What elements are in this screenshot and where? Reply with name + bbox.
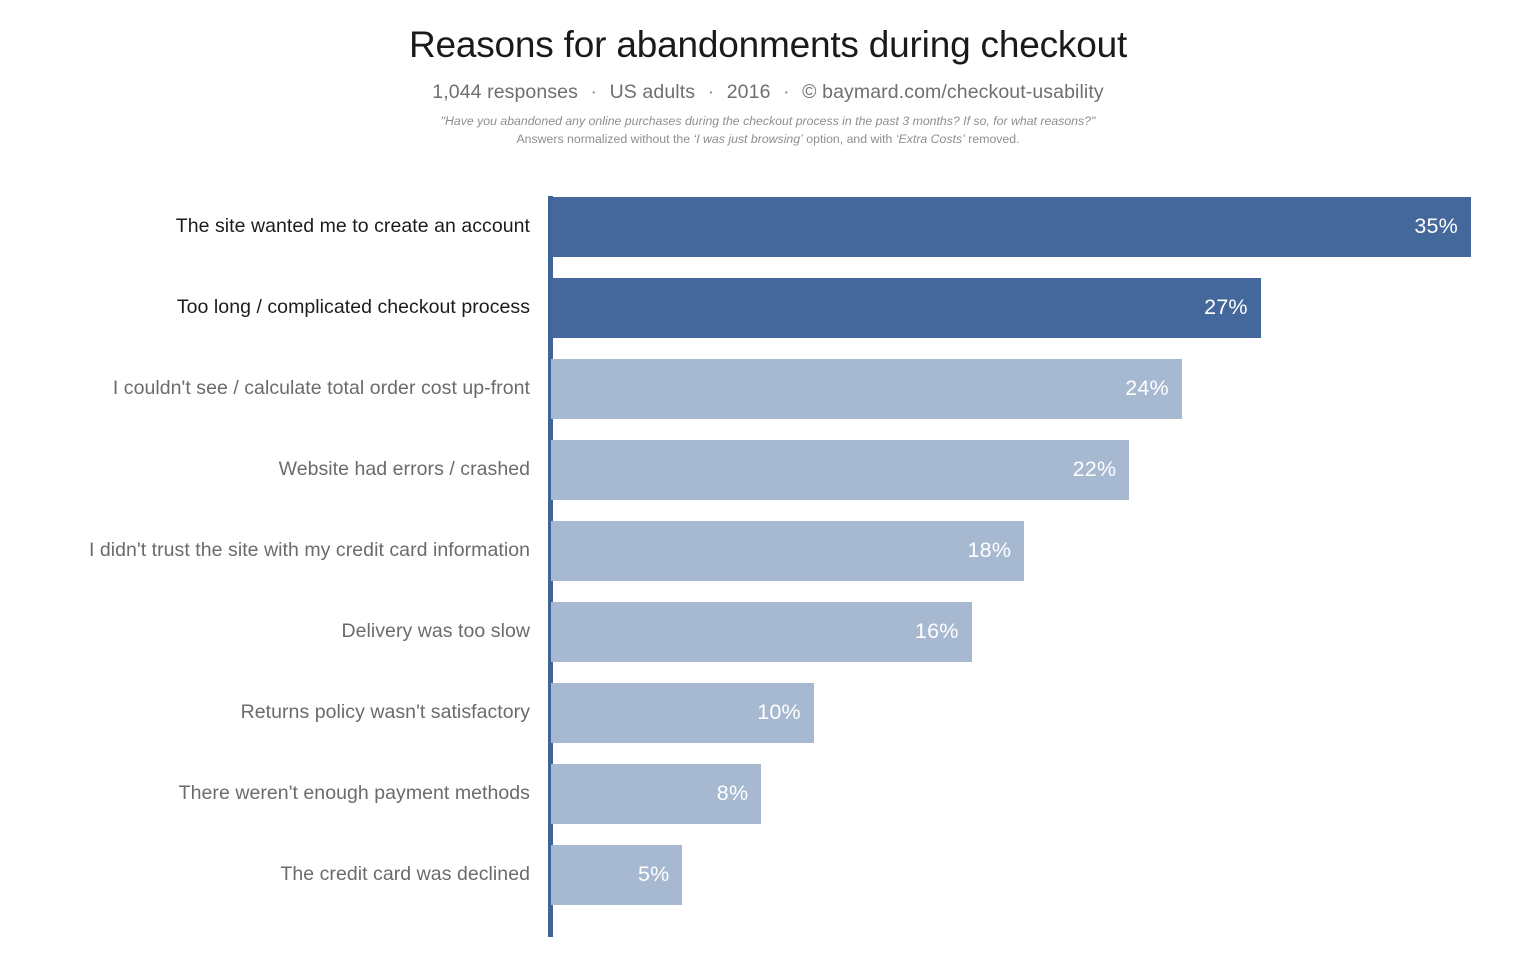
chart-subtitle: 1,044 responses · US adults · 2016 · © b… (0, 80, 1536, 104)
bar-value-label: 10% (757, 702, 814, 724)
chart-header: Reasons for abandonments during checkout… (0, 0, 1536, 148)
bar-rows: The site wanted me to create an account3… (0, 196, 1536, 925)
bar-row: The site wanted me to create an account3… (0, 196, 1536, 277)
bar-value-label: 16% (915, 621, 972, 643)
note-middle: option, and with (803, 132, 896, 146)
category-label: Website had errors / crashed (10, 439, 530, 499)
bar-value-label: 22% (1073, 459, 1130, 481)
bar-value-label: 18% (968, 540, 1025, 562)
bar: 16% (551, 602, 972, 662)
bar: 10% (551, 683, 814, 743)
subtitle-separator: · (584, 81, 605, 103)
bar-row: Too long / complicated checkout process2… (0, 277, 1536, 358)
bar-row: Website had errors / crashed22% (0, 439, 1536, 520)
category-label: There weren't enough payment methods (10, 763, 530, 823)
subtitle-year: 2016 (727, 81, 771, 103)
note-question: "Have you abandoned any online purchases… (441, 114, 1096, 128)
chart-note: "Have you abandoned any online purchases… (0, 112, 1536, 148)
subtitle-separator: · (776, 81, 797, 103)
bar: 27% (551, 278, 1261, 338)
plot-area: The site wanted me to create an account3… (0, 196, 1536, 941)
bar: 24% (551, 359, 1182, 419)
category-label: I didn't trust the site with my credit c… (10, 520, 530, 580)
subtitle-separator: · (701, 81, 722, 103)
bar-row: I couldn't see / calculate total order c… (0, 358, 1536, 439)
bar-value-label: 27% (1204, 297, 1261, 319)
bar-row: Returns policy wasn't satisfactory10% (0, 682, 1536, 763)
category-label: I couldn't see / calculate total order c… (10, 358, 530, 418)
bar-row: There weren't enough payment methods8% (0, 763, 1536, 844)
note-suffix: removed. (965, 132, 1020, 146)
note-italic-extra-costs: ‘Extra Costs’ (896, 132, 965, 146)
category-label: The credit card was declined (10, 844, 530, 904)
bar-row: Delivery was too slow16% (0, 601, 1536, 682)
subtitle-source: © baymard.com/checkout-usability (802, 81, 1104, 103)
category-label: Returns policy wasn't satisfactory (10, 682, 530, 742)
page-title: Reasons for abandonments during checkout (0, 22, 1536, 68)
bar: 8% (551, 764, 761, 824)
category-label: Too long / complicated checkout process (10, 277, 530, 337)
bar: 22% (551, 440, 1129, 500)
bar-value-label: 24% (1125, 378, 1182, 400)
category-label: The site wanted me to create an account (10, 196, 530, 256)
subtitle-audience: US adults (610, 81, 695, 103)
bar-row: The credit card was declined5% (0, 844, 1536, 925)
bar-row: I didn't trust the site with my credit c… (0, 520, 1536, 601)
note-italic-browsing: ‘I was just browsing’ (693, 132, 802, 146)
note-prefix: Answers normalized without the (516, 132, 693, 146)
category-label: Delivery was too slow (10, 601, 530, 661)
bar: 5% (551, 845, 682, 905)
bar: 18% (551, 521, 1024, 581)
subtitle-responses: 1,044 responses (432, 81, 578, 103)
chart-figure: Reasons for abandonments during checkout… (0, 0, 1536, 965)
bar-value-label: 8% (717, 783, 761, 805)
bar: 35% (551, 197, 1471, 257)
bar-value-label: 5% (638, 864, 682, 886)
bar-value-label: 35% (1414, 216, 1471, 238)
